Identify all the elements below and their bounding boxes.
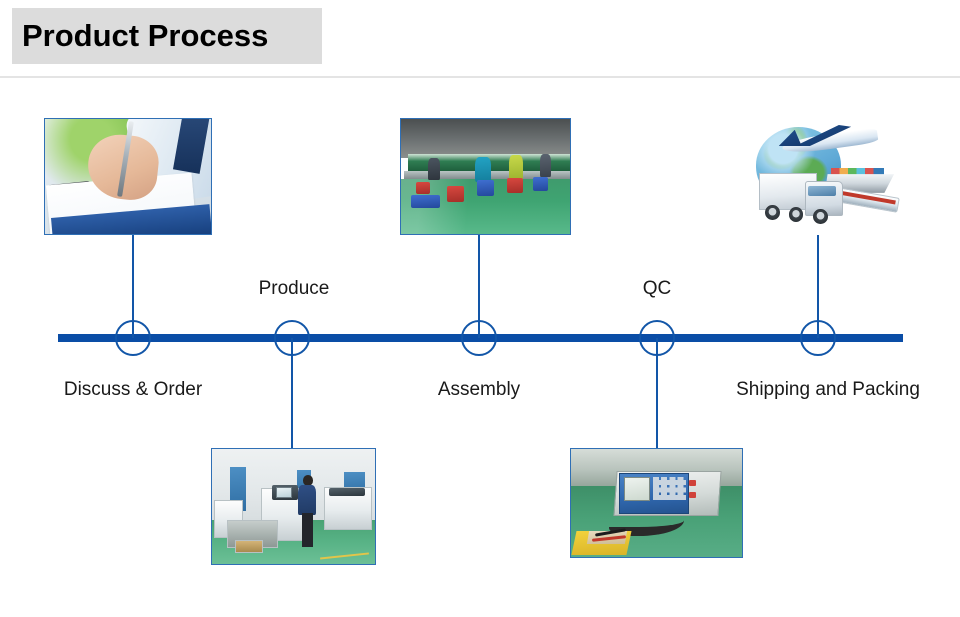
truck-windshield (808, 186, 836, 197)
label-discuss-order: Discuss & Order (64, 379, 202, 401)
stool-red-1 (507, 178, 522, 193)
label-qc: QC (643, 278, 672, 300)
truck-wheel-rear (765, 205, 780, 220)
photo-assembly (400, 118, 571, 235)
timeline-node-qc[interactable] (639, 320, 675, 356)
photo-qc-art (571, 449, 742, 557)
truck-wheel-mid (789, 207, 804, 222)
truck-wheel-front (813, 209, 828, 224)
label-produce: Produce (259, 278, 330, 300)
cardboard-box (235, 540, 263, 554)
machine-display (276, 487, 293, 498)
worker-teal (475, 157, 490, 182)
worker-torso (298, 485, 316, 515)
photo-produce-art (212, 449, 375, 564)
worker-grey (540, 154, 552, 177)
timeline-node-assembly[interactable] (461, 320, 497, 356)
worker-legs (302, 513, 313, 546)
photo-assembly-art (401, 119, 570, 234)
machine-right-panel (329, 488, 365, 496)
stool-red-2 (447, 186, 464, 202)
label-shipping-packing: Shipping and Packing (736, 379, 920, 401)
photo-shipping-packing (739, 118, 904, 235)
timeline-node-produce[interactable] (274, 320, 310, 356)
test-instrument-screen (624, 477, 650, 501)
label-assembly: Assembly (438, 379, 520, 401)
red-button-top (689, 480, 696, 485)
crate-blue (411, 195, 440, 208)
red-button-bottom (689, 492, 696, 497)
photo-shipping-packing-art (739, 118, 904, 235)
stool-blue-1 (477, 180, 494, 196)
worker-far-left (428, 158, 440, 180)
photo-qc (570, 448, 743, 558)
photo-produce (211, 448, 376, 565)
page-title: Product Process (12, 8, 322, 64)
factory-ceiling (401, 119, 570, 158)
photo-discuss-order (44, 118, 212, 235)
stool-blue-2 (533, 177, 548, 192)
worker-yellow (509, 155, 523, 180)
timeline-node-shipping-packing[interactable] (800, 320, 836, 356)
crate-red (416, 182, 430, 194)
test-instrument-keypad (653, 477, 685, 500)
photo-discuss-order-art (45, 119, 211, 234)
timeline-node-discuss-order[interactable] (115, 320, 151, 356)
header-divider (0, 76, 960, 78)
